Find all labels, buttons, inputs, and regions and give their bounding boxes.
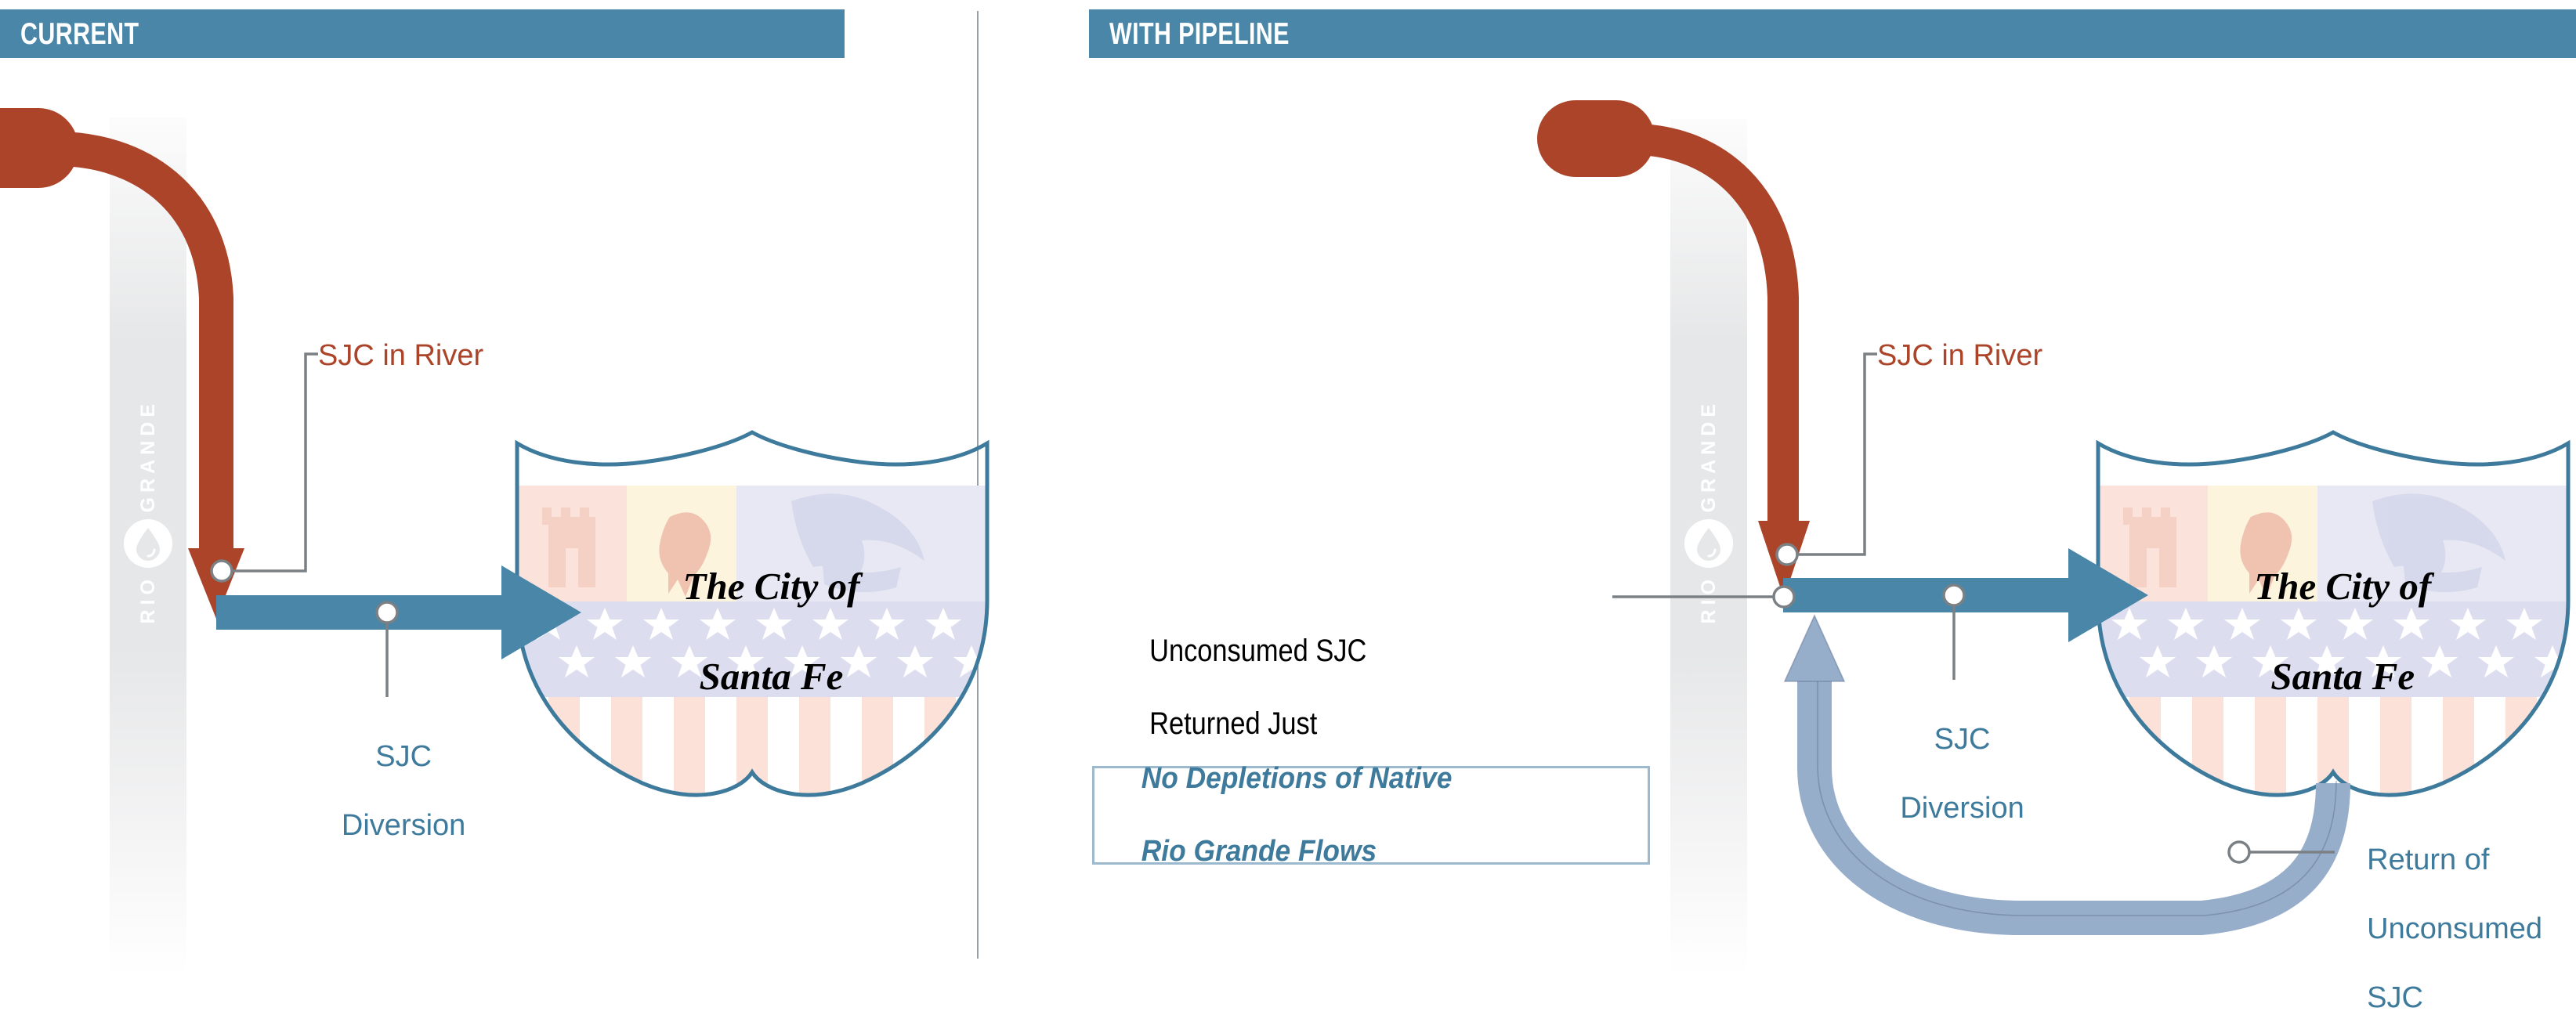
label-sjc-diversion-current: SJC Diversion (293, 705, 481, 877)
note-line2: Rio Grande Flows (1141, 835, 1377, 868)
unconsumed-line1: Unconsumed SJC (1149, 634, 1366, 668)
header-bar-pipeline: WITH PIPELINE (1089, 9, 2576, 58)
panel-current: CURRENT RIO GRANDE (0, 0, 971, 975)
marker-sjc-diversion (377, 602, 397, 623)
panel-divider (977, 11, 979, 959)
rio-grande-label-pipeline: RIO GRANDE (1670, 399, 1747, 624)
water-drop-icon (1684, 519, 1733, 568)
note-line1: No Depletions of Native (1141, 762, 1453, 795)
header-title-current: CURRENT (20, 19, 139, 49)
sjc-diversion-line1: SJC (375, 740, 432, 773)
label-sjc-in-river-pipeline: SJC in River (1877, 338, 2042, 373)
note-box-text: No Depletions of Native Rio Grande Flows (1094, 724, 1452, 906)
header-bar-current: CURRENT (0, 9, 845, 58)
header-title-pipeline: WITH PIPELINE (1109, 19, 1290, 49)
note-box-no-depletions: No Depletions of Native Rio Grande Flows (1092, 766, 1650, 865)
rio-grande-label-current: RIO GRANDE (110, 399, 186, 624)
return-line3: SJC (2367, 981, 2423, 1014)
label-sjc-diversion-pipeline: SJC Diversion (1860, 688, 2048, 825)
rio-grande-strip-current: RIO GRANDE (110, 117, 186, 975)
sjc-diversion-line2: Diversion (1900, 792, 2024, 825)
sjc-diversion-line2: Diversion (342, 809, 465, 842)
marker-sjc-in-river (212, 561, 232, 581)
sjc-source-blob (0, 108, 78, 188)
rio-grande-word-grande: GRANDE (139, 399, 158, 512)
crest-line2: Santa Fe (700, 655, 844, 698)
rio-grande-word-rio: RIO (139, 575, 158, 623)
crest-line2: Santa Fe (2270, 655, 2415, 698)
water-drop-icon (124, 519, 172, 568)
sjc-river-arrowhead (188, 548, 244, 619)
rio-grande-strip-pipeline: RIO GRANDE (1670, 119, 1747, 975)
rio-grande-word-grande: GRANDE (1699, 399, 1719, 512)
rio-grande-word-rio: RIO (1699, 575, 1719, 623)
label-return-of-unconsumed-sjc: Return of Unconsumed SJC (2350, 808, 2542, 1015)
crest-label-current: The City of Santa Fe (517, 518, 987, 745)
return-line2: Unconsumed (2367, 912, 2542, 945)
return-line1: Return of (2367, 843, 2489, 876)
label-sjc-in-river-current: SJC in River (318, 338, 483, 373)
crest-label-pipeline: The City of Santa Fe (2098, 518, 2568, 699)
crest-line1: The City of (2254, 565, 2431, 608)
crest-line1: The City of (683, 565, 860, 608)
sjc-diversion-line1: SJC (1934, 723, 1991, 756)
